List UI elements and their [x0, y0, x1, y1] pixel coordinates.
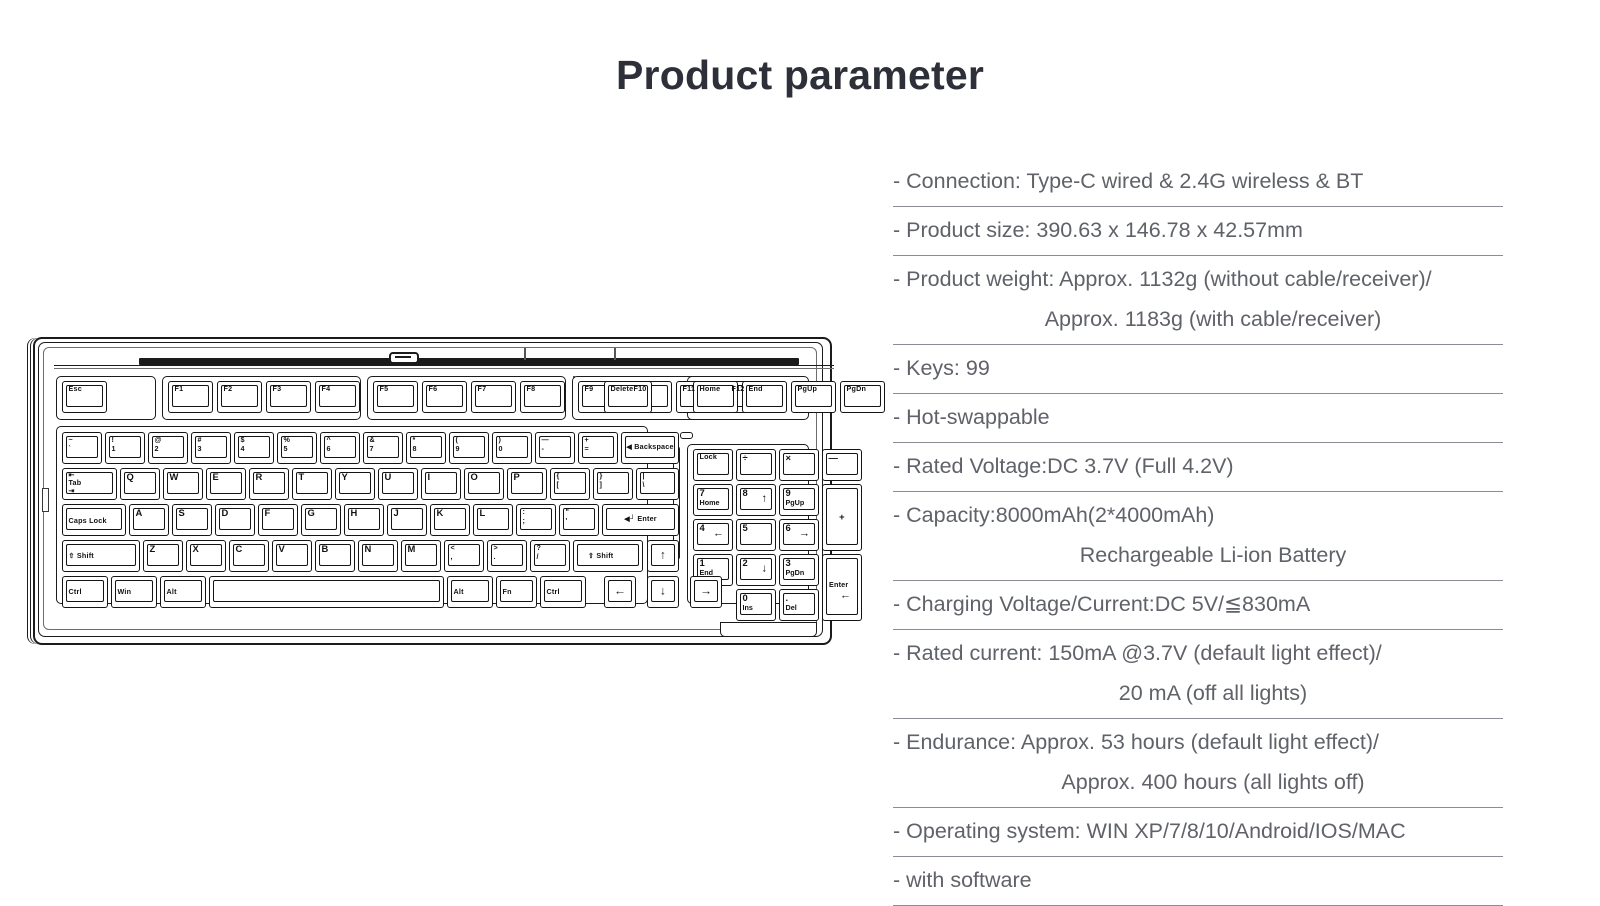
key-shift-right[interactable]: ⇧ Shift	[573, 540, 643, 572]
key-numlock[interactable]: Lock	[693, 449, 733, 481]
spec-line-continuation: Approx. 1183g (with cable/receiver)	[893, 299, 1503, 339]
spec-row: - Keys: 99	[893, 345, 1503, 394]
key-bracket-right[interactable]: }]	[593, 468, 633, 500]
spec-list: - Connection: Type-C wired & 2.4G wirele…	[893, 158, 1503, 906]
key-tab[interactable]: ⇤ Tab ⇥	[62, 468, 117, 500]
key-win[interactable]: Win	[111, 576, 157, 608]
key-numpad-3[interactable]: 3PgDn	[779, 554, 819, 586]
usb-c-port-icon	[389, 352, 419, 364]
mode-switch-icon	[524, 348, 526, 360]
spec-row: - Rated Voltage:DC 3.7V (Full 4.2V)	[893, 443, 1503, 492]
page-title: Product parameter	[0, 52, 1600, 99]
spec-line: - with software	[893, 860, 1503, 900]
spec-row: - Charging Voltage/Current:DC 5V/≦830mA	[893, 581, 1503, 630]
key-arrow-up[interactable]: ↑	[647, 540, 679, 572]
key-quote[interactable]: "'	[559, 504, 599, 536]
spec-row: - with software	[893, 857, 1503, 906]
key-1[interactable]: !1	[105, 432, 145, 464]
key-comma[interactable]: <,	[444, 540, 484, 572]
key-home[interactable]: Home	[693, 381, 738, 413]
key-7[interactable]: &7	[363, 432, 403, 464]
spec-row: - Connection: Type-C wired & 2.4G wirele…	[893, 158, 1503, 207]
key-numpad-plus[interactable]: +	[822, 484, 862, 551]
side-port-icon	[42, 488, 49, 512]
key-9[interactable]: (9	[449, 432, 489, 464]
keyboard-diagram: Esc F1 F2 F3 F4 F5 F6 F7 F8 F9 F10 F11 F…	[30, 318, 830, 648]
key-a[interactable]: A	[129, 504, 169, 536]
key-space[interactable]	[209, 576, 444, 608]
key-n[interactable]: N	[358, 540, 398, 572]
key-o[interactable]: O	[464, 468, 504, 500]
key-arrow-right[interactable]: →	[690, 576, 722, 608]
key-q[interactable]: Q	[120, 468, 160, 500]
power-switch-icon	[614, 348, 616, 360]
key-u[interactable]: U	[378, 468, 418, 500]
key-fn[interactable]: Fn	[496, 576, 537, 608]
key-backtick[interactable]: ~`	[62, 432, 102, 464]
key-numpad-minus[interactable]: —	[822, 449, 862, 481]
key-shift-left[interactable]: ⇧ Shift	[62, 540, 140, 572]
spec-line: - Rated current: 150mA @3.7V (default li…	[893, 633, 1503, 673]
keyboard-top-edge-2	[54, 368, 834, 369]
spec-line-continuation: Rechargeable Li-ion Battery	[893, 535, 1503, 575]
key-5[interactable]: %5	[277, 432, 317, 464]
spec-line: - Product size: 390.63 x 146.78 x 42.57m…	[893, 210, 1503, 250]
key-v[interactable]: V	[272, 540, 312, 572]
key-numpad-4[interactable]: 4←	[693, 519, 733, 551]
spec-row: - Endurance: Approx. 53 hours (default l…	[893, 719, 1503, 808]
key-ctrl-left[interactable]: Ctrl	[62, 576, 108, 608]
spec-row: - Product weight: Approx. 1132g (without…	[893, 256, 1503, 345]
key-multiply[interactable]: ×	[779, 449, 819, 481]
key-l[interactable]: L	[473, 504, 513, 536]
key-d[interactable]: D	[215, 504, 255, 536]
key-f4[interactable]: F4	[315, 381, 360, 413]
key-2[interactable]: @2	[148, 432, 188, 464]
key-period[interactable]: >.	[487, 540, 527, 572]
spec-line-continuation: 20 mA (off all lights)	[893, 673, 1503, 713]
key-f6[interactable]: F6	[422, 381, 467, 413]
key-numpad-0[interactable]: 0Ins	[736, 589, 776, 621]
keyboard-top-strip	[139, 358, 799, 365]
spec-line: - Endurance: Approx. 53 hours (default l…	[893, 722, 1503, 762]
spec-line: - Operating system: WIN XP/7/8/10/Androi…	[893, 811, 1503, 851]
keyboard-plate: Esc F1 F2 F3 F4 F5 F6 F7 F8 F9 F10 F11 F…	[43, 347, 817, 630]
key-8[interactable]: *8	[406, 432, 446, 464]
key-f[interactable]: F	[258, 504, 298, 536]
spec-row: - Rated current: 150mA @3.7V (default li…	[893, 630, 1503, 719]
key-bracket-left[interactable]: {[	[550, 468, 590, 500]
spec-line: - Hot-swappable	[893, 397, 1503, 437]
spec-line: - Capacity:8000mAh(2*4000mAh)	[893, 495, 1503, 535]
key-j[interactable]: J	[387, 504, 427, 536]
spec-line: - Charging Voltage/Current:DC 5V/≦830mA	[893, 584, 1503, 624]
spec-line: - Connection: Type-C wired & 2.4G wirele…	[893, 161, 1503, 201]
key-f7[interactable]: F7	[471, 381, 516, 413]
key-semicolon[interactable]: :;	[516, 504, 556, 536]
key-f8[interactable]: F8	[520, 381, 565, 413]
spec-line: - Product weight: Approx. 1132g (without…	[893, 259, 1503, 299]
spec-line: - Keys: 99	[893, 348, 1503, 388]
key-arrow-left[interactable]: ←	[604, 576, 636, 608]
spec-row: - Operating system: WIN XP/7/8/10/Androi…	[893, 808, 1503, 857]
key-arrow-down[interactable]: ↓	[647, 576, 679, 608]
keyboard-top-edge	[54, 365, 834, 366]
key-ctrl-right[interactable]: Ctrl	[540, 576, 586, 608]
key-k[interactable]: K	[430, 504, 470, 536]
key-numpad-2[interactable]: 2↓	[736, 554, 776, 586]
key-f1[interactable]: F1	[168, 381, 213, 413]
key-0[interactable]: )0	[492, 432, 532, 464]
spec-row: - Hot-swappable	[893, 394, 1503, 443]
key-esc[interactable]: Esc	[62, 381, 107, 413]
key-delete[interactable]: Delete	[604, 381, 652, 413]
indicator-led-icon	[680, 432, 693, 439]
key-numpad-6[interactable]: 6→	[779, 519, 819, 551]
key-equal[interactable]: +=	[578, 432, 618, 464]
key-enter[interactable]: ◀┘ Enter	[602, 504, 679, 536]
spec-row: - Product size: 390.63 x 146.78 x 42.57m…	[893, 207, 1503, 256]
key-6[interactable]: ^6	[320, 432, 360, 464]
key-end[interactable]: End	[742, 381, 787, 413]
keyboard-foot	[720, 622, 817, 637]
key-c[interactable]: C	[229, 540, 269, 572]
key-y[interactable]: Y	[335, 468, 375, 500]
key-backslash[interactable]: |\	[636, 468, 679, 500]
block-spacer	[573, 376, 575, 378]
key-e[interactable]: E	[206, 468, 246, 500]
key-minus[interactable]: —-	[535, 432, 575, 464]
key-caps-lock[interactable]: Caps Lock	[62, 504, 126, 536]
key-pgup[interactable]: PgUp	[791, 381, 836, 413]
key-i[interactable]: I	[421, 468, 461, 500]
key-f5[interactable]: F5	[373, 381, 418, 413]
spec-line-continuation: Approx. 400 hours (all lights off)	[893, 762, 1503, 802]
key-alt-right[interactable]: Alt	[447, 576, 493, 608]
key-b[interactable]: B	[315, 540, 355, 572]
key-g[interactable]: G	[301, 504, 341, 536]
key-3[interactable]: #3	[191, 432, 231, 464]
key-divide[interactable]: ÷	[736, 449, 776, 481]
key-s[interactable]: S	[172, 504, 212, 536]
key-numpad-period[interactable]: .Del	[779, 589, 819, 621]
key-numpad-8[interactable]: 8↑	[736, 484, 776, 516]
spec-row: - Capacity:8000mAh(2*4000mAh)Rechargeabl…	[893, 492, 1503, 581]
key-backspace[interactable]: ◀ Backspace	[621, 432, 679, 464]
key-h[interactable]: H	[344, 504, 384, 536]
key-z[interactable]: Z	[143, 540, 183, 572]
key-4[interactable]: $4	[234, 432, 274, 464]
key-pgdn[interactable]: PgDn	[840, 381, 885, 413]
key-numpad-enter[interactable]: Enter←	[822, 554, 862, 621]
key-x[interactable]: X	[186, 540, 226, 572]
spec-line: - Rated Voltage:DC 3.7V (Full 4.2V)	[893, 446, 1503, 486]
key-f2[interactable]: F2	[217, 381, 262, 413]
key-alt-left[interactable]: Alt	[160, 576, 206, 608]
key-p[interactable]: P	[507, 468, 547, 500]
key-t[interactable]: T	[292, 468, 332, 500]
key-slash[interactable]: ?/	[530, 540, 570, 572]
key-numpad-5[interactable]: 5	[736, 519, 776, 551]
key-numpad-9[interactable]: 9PgUp	[779, 484, 819, 516]
key-numpad-7[interactable]: 7Home	[693, 484, 733, 516]
key-m[interactable]: M	[401, 540, 441, 572]
key-r[interactable]: R	[249, 468, 289, 500]
key-f3[interactable]: F3	[266, 381, 311, 413]
key-w[interactable]: W	[163, 468, 203, 500]
